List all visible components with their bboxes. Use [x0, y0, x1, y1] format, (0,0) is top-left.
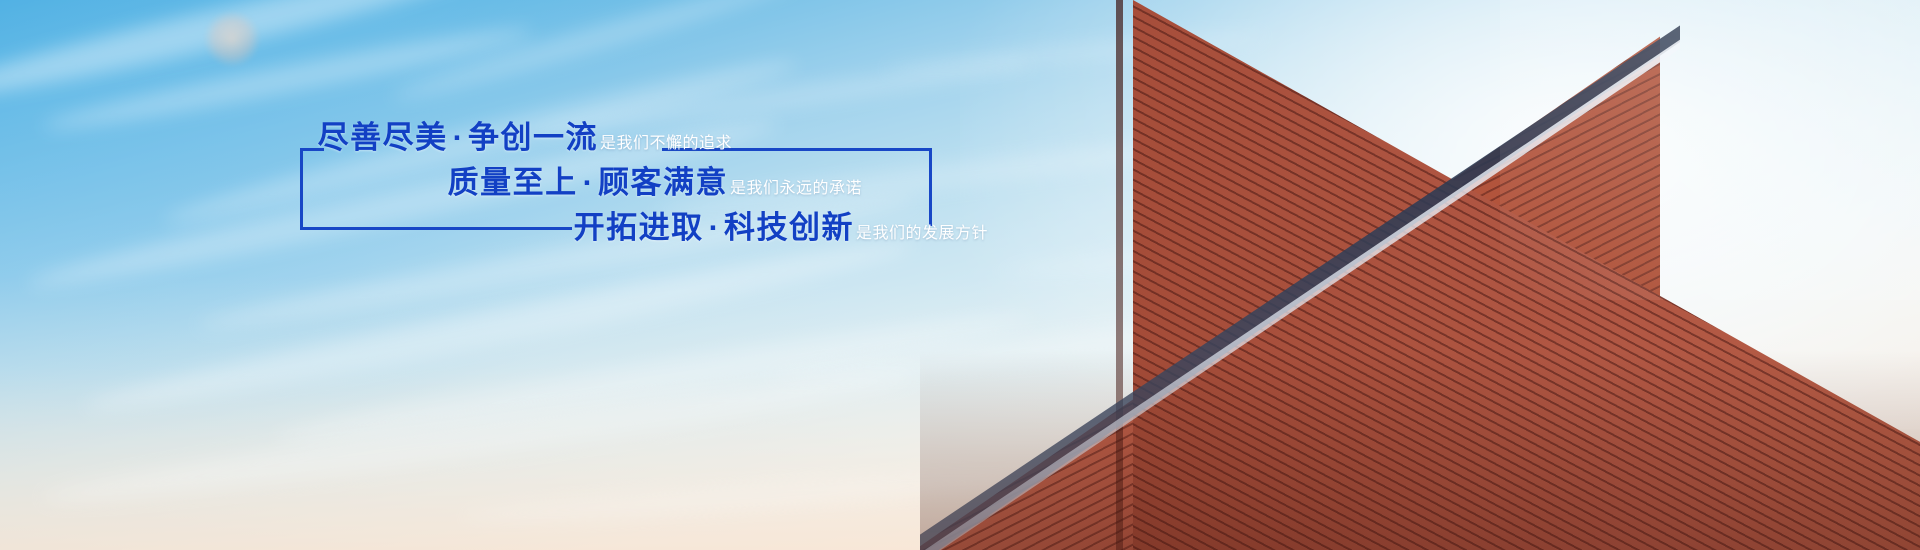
- slogan-line-1-headline-2: 争创一流: [468, 120, 598, 155]
- slogan-line-1: 尽善尽美·争创一流是我们不懈的追求: [0, 122, 1000, 153]
- slogan-lines: 尽善尽美·争创一流是我们不懈的追求 质量至上·顾客满意是我们永远的承诺 开拓进取…: [0, 122, 1000, 243]
- slogan-line-3-separator: ·: [704, 210, 724, 245]
- slogan-line-3: 开拓进取·科技创新是我们的发展方针: [0, 212, 1000, 243]
- slogan-line-2: 质量至上·顾客满意是我们永远的承诺: [0, 167, 1000, 198]
- hero-banner: 尽善尽美·争创一流是我们不懈的追求 质量至上·顾客满意是我们永远的承诺 开拓进取…: [0, 0, 1920, 550]
- slogan-line-3-headline: 开拓进取: [574, 210, 704, 245]
- slogan-line-2-headline-2: 顾客满意: [598, 165, 728, 200]
- slogan-line-2-headline: 质量至上: [448, 165, 578, 200]
- slogan-line-3-tail: 是我们的发展方针: [856, 225, 988, 242]
- slogan-line-2-separator: ·: [578, 165, 598, 200]
- slogan-line-2-tail: 是我们永远的承诺: [730, 180, 862, 197]
- slogan-line-3-headline-2: 科技创新: [724, 210, 854, 245]
- slogan-line-1-tail: 是我们不懈的追求: [600, 135, 732, 152]
- slogan-line-1-separator: ·: [448, 120, 468, 155]
- slogan-line-1-headline: 尽善尽美: [318, 120, 448, 155]
- slogan-block: 尽善尽美·争创一流是我们不懈的追求 质量至上·顾客满意是我们永远的承诺 开拓进取…: [0, 0, 1920, 550]
